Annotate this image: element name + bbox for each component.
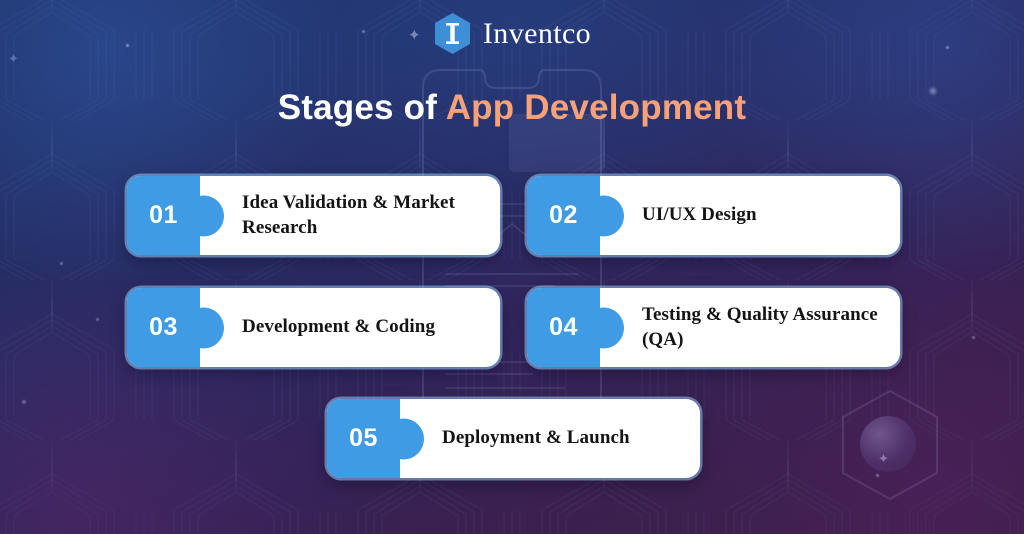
stage-number-block: 05 [327, 399, 400, 478]
stage-number-block: 03 [127, 288, 200, 367]
stage-number: 04 [549, 313, 578, 342]
title-accent: App Development [446, 88, 747, 127]
stage-label: Deployment & Launch [400, 426, 700, 450]
puzzle-knob-icon [583, 195, 624, 236]
stage-card-02[interactable]: 02 UI/UX Design [527, 176, 900, 255]
stage-label: Idea Validation & Market Research [200, 191, 500, 240]
puzzle-knob-icon [183, 195, 224, 236]
stage-number-block: 04 [527, 288, 600, 367]
stage-number: 01 [149, 201, 178, 230]
stage-card-03[interactable]: 03 Development & Coding [127, 288, 500, 367]
stage-label: Testing & Quality Assurance (QA) [600, 303, 900, 352]
stage-number: 02 [549, 201, 578, 230]
title-plain: Stages of [278, 88, 446, 127]
stage-number-block: 02 [527, 176, 600, 255]
stage-label: Development & Coding [200, 315, 500, 339]
brand-logo: Inventco [0, 12, 1024, 55]
stage-card-04[interactable]: 04 Testing & Quality Assurance (QA) [527, 288, 900, 367]
puzzle-knob-icon [183, 307, 224, 348]
stage-card-05[interactable]: 05 Deployment & Launch [327, 399, 700, 478]
stage-number-block: 01 [127, 176, 200, 255]
stage-card-01[interactable]: 01 Idea Validation & Market Research [127, 176, 500, 255]
brand-name: Inventco [483, 17, 591, 51]
stage-number: 03 [149, 313, 178, 342]
hexagon-pillar-icon [433, 12, 472, 55]
stage-number: 05 [349, 424, 378, 453]
infographic-canvas: ✦ ✦ ✦ Inventco Stages of App Development… [0, 0, 1024, 534]
puzzle-knob-icon [383, 418, 424, 459]
stage-card-list: 01 Idea Validation & Market Research 02 … [0, 0, 1024, 534]
puzzle-knob-icon [583, 307, 624, 348]
stage-label: UI/UX Design [600, 203, 900, 227]
page-title: Stages of App Development [0, 88, 1024, 128]
